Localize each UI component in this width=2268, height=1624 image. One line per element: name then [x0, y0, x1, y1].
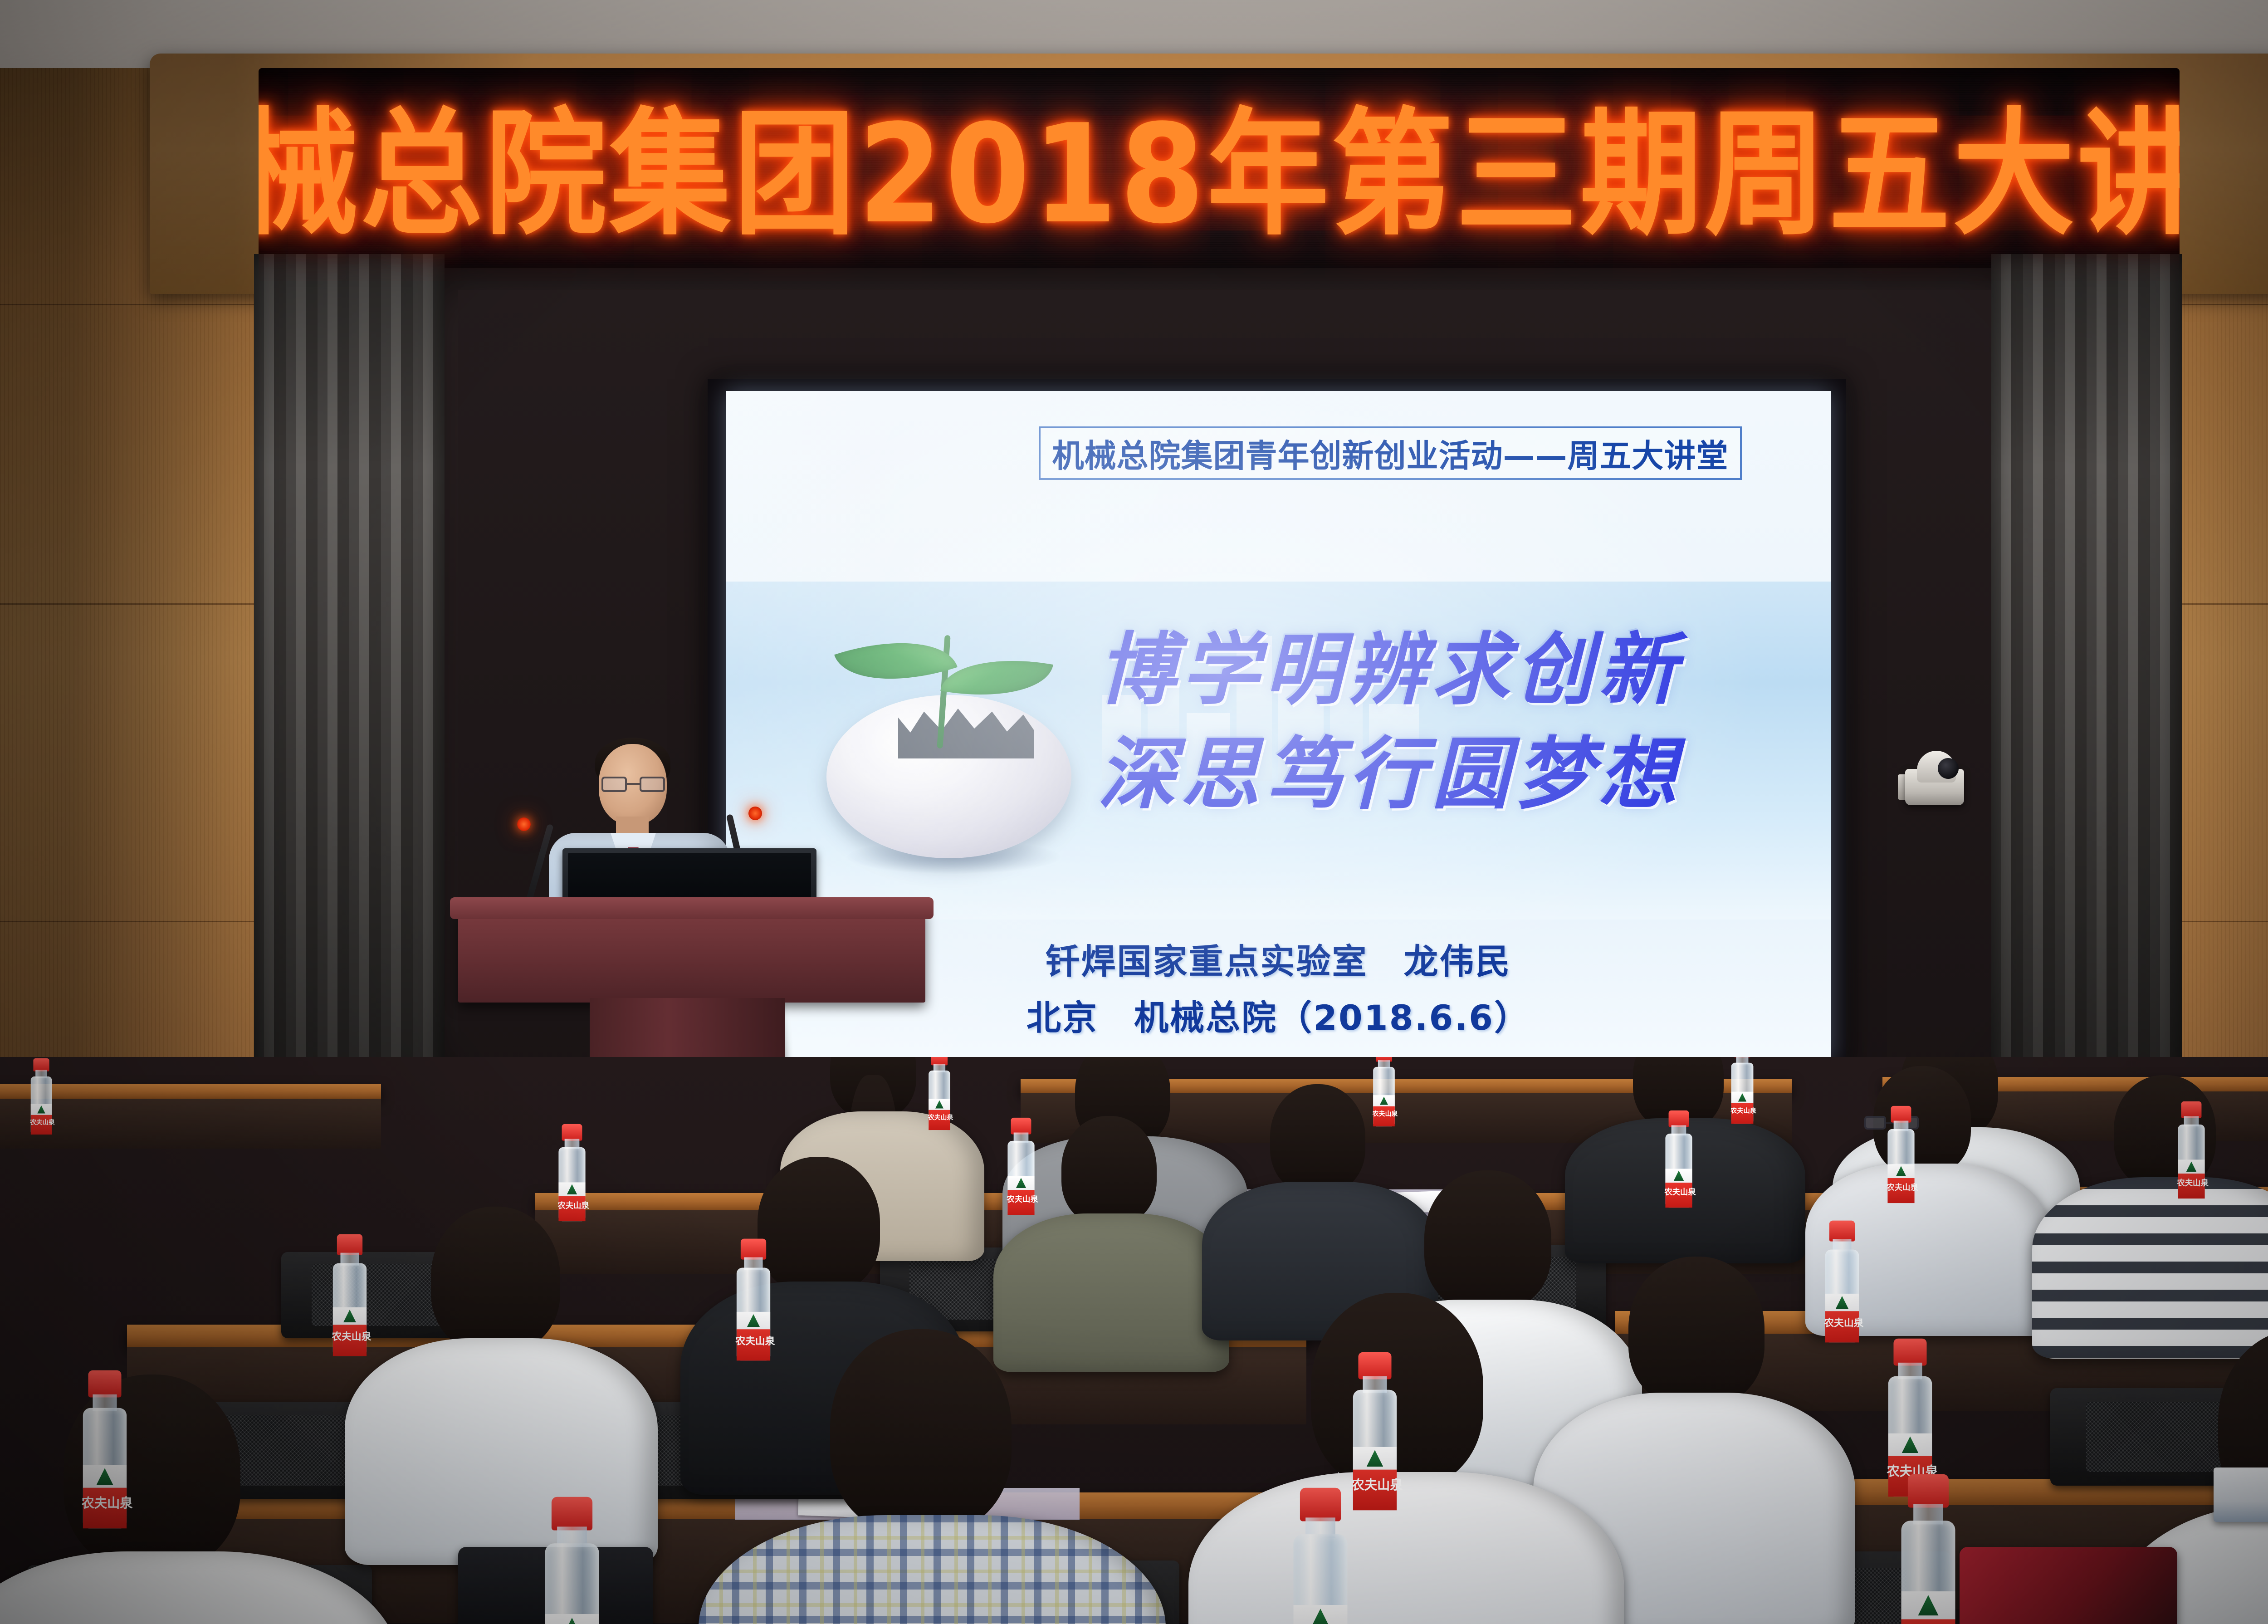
egg-shell	[826, 695, 1071, 858]
water-bottle: 农夫山泉	[1887, 1339, 1934, 1497]
stage-curtain-right	[1991, 254, 2182, 1107]
podium-lip	[450, 897, 934, 919]
water-bottle: 农夫山泉	[543, 1497, 601, 1624]
sprout-leaf-left	[834, 620, 958, 702]
tissue-box	[2214, 1467, 2268, 1522]
water-bottle: 农夫山泉	[2177, 1101, 2205, 1198]
water-bottle: 农夫山泉	[1373, 1057, 1396, 1126]
attendee-head	[1628, 1257, 1765, 1406]
list-item	[2032, 1075, 2268, 1365]
lecture-hall-photo: 机械总院集团2018年第三期周五大讲堂 机械总院集团青年创新创业活动——周五大讲…	[0, 0, 2268, 1624]
attendee-plaid-shirt	[699, 1515, 1166, 1624]
attendee-front-center-white	[1188, 1472, 1624, 1624]
podium-top	[458, 907, 925, 1003]
list-item	[699, 1329, 1161, 1624]
water-bottle: 农夫山泉	[1291, 1488, 1349, 1624]
water-bottle: 农夫山泉	[30, 1058, 53, 1135]
audience-seating-area: 农夫山泉 农夫山泉 农夫山泉 农夫山泉 农夫山泉 农夫山泉	[0, 1057, 2268, 1624]
water-bottle: 农夫山泉	[1824, 1221, 1860, 1343]
attendee-white-tee-left	[345, 1338, 658, 1565]
list-item	[0, 1375, 390, 1624]
list-item	[1188, 1293, 1619, 1624]
water-bottle: 农夫山泉	[1007, 1118, 1035, 1215]
attendee-head	[1061, 1116, 1157, 1225]
water-bottle: 农夫山泉	[1730, 1057, 1754, 1124]
slide-title-line-2: 深思笃行圆梦想	[1098, 722, 1805, 825]
attendee-head	[1424, 1170, 1551, 1311]
attendee-head	[758, 1157, 880, 1293]
water-bottle: 农夫山泉	[1887, 1106, 1915, 1203]
desk-row-far-left	[0, 1084, 381, 1100]
water-bottle: 农夫山泉	[557, 1124, 586, 1221]
desk-front-far-left	[0, 1099, 381, 1149]
attendee-head	[830, 1329, 1012, 1533]
attendee-head	[431, 1207, 560, 1352]
water-bottle: 农夫山泉	[1352, 1352, 1398, 1511]
water-bottle: 农夫山泉	[332, 1234, 367, 1356]
list-item	[345, 1207, 653, 1551]
slide-header-text: 机械总院集团青年创新创业活动——周五大讲堂	[1052, 430, 1729, 476]
led-banner-display: 机械总院集团2018年第三期周五大讲堂	[259, 68, 2180, 281]
water-bottle: 农夫山泉	[1899, 1474, 1957, 1624]
slide-title-line-1: 博学明辨求创新	[1098, 618, 1805, 721]
water-bottle: 农夫山泉	[735, 1239, 771, 1361]
egg-sprout-graphic	[807, 627, 1089, 881]
attendee-front-left-white	[0, 1551, 399, 1624]
microphone-led-right	[748, 807, 762, 820]
slide-header-box: 机械总院集团青年创新创业活动——周五大讲堂	[1039, 426, 1742, 480]
red-backpack	[1960, 1547, 2177, 1624]
microphone-led-left	[517, 817, 531, 831]
camera-head	[1917, 751, 1956, 783]
stage-curtain-left	[254, 254, 445, 1107]
water-bottle: 农夫山泉	[928, 1057, 951, 1130]
water-bottle: 农夫山泉	[82, 1370, 128, 1529]
eyeglasses-icon	[601, 777, 665, 792]
water-bottle: 农夫山泉	[1664, 1110, 1693, 1208]
ptz-camera-icon	[1905, 751, 1964, 805]
camera-lens	[1938, 758, 1959, 779]
led-banner-text: 机械总院集团2018年第三期周五大讲堂	[259, 107, 2180, 243]
